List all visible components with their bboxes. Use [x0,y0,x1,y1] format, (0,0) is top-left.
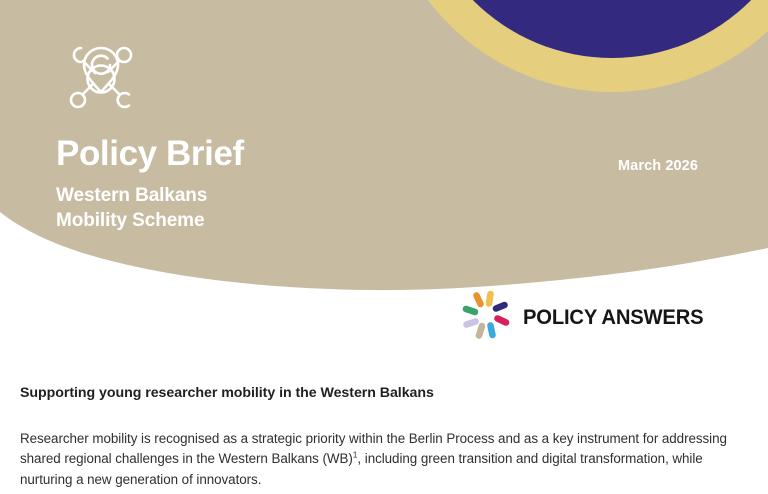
header-banner [0,0,768,300]
header-background-shapes [0,0,768,300]
capsule-orange [477,296,481,305]
policy-brief-page: Policy Brief Western Balkans Mobility Sc… [0,0,768,494]
capsule-blue [491,326,493,336]
body-paragraph: Researcher mobility is recognised as a s… [20,429,735,490]
capsule-yellow [489,294,491,304]
body-heading: Supporting young researcher mobility in … [20,385,735,401]
capsule-lavender [467,322,476,325]
policy-answers-burst-mark [455,286,517,348]
capsule-crimson [498,319,507,323]
body-section: Supporting young researcher mobility in … [20,385,735,490]
capsule-navy [496,305,505,309]
capsule-green [466,309,475,312]
logo-wordmark: POLICY ANSWERS [523,305,703,330]
capsule-tan [479,326,482,336]
policy-answers-logo: POLICY ANSWERS [455,286,711,348]
